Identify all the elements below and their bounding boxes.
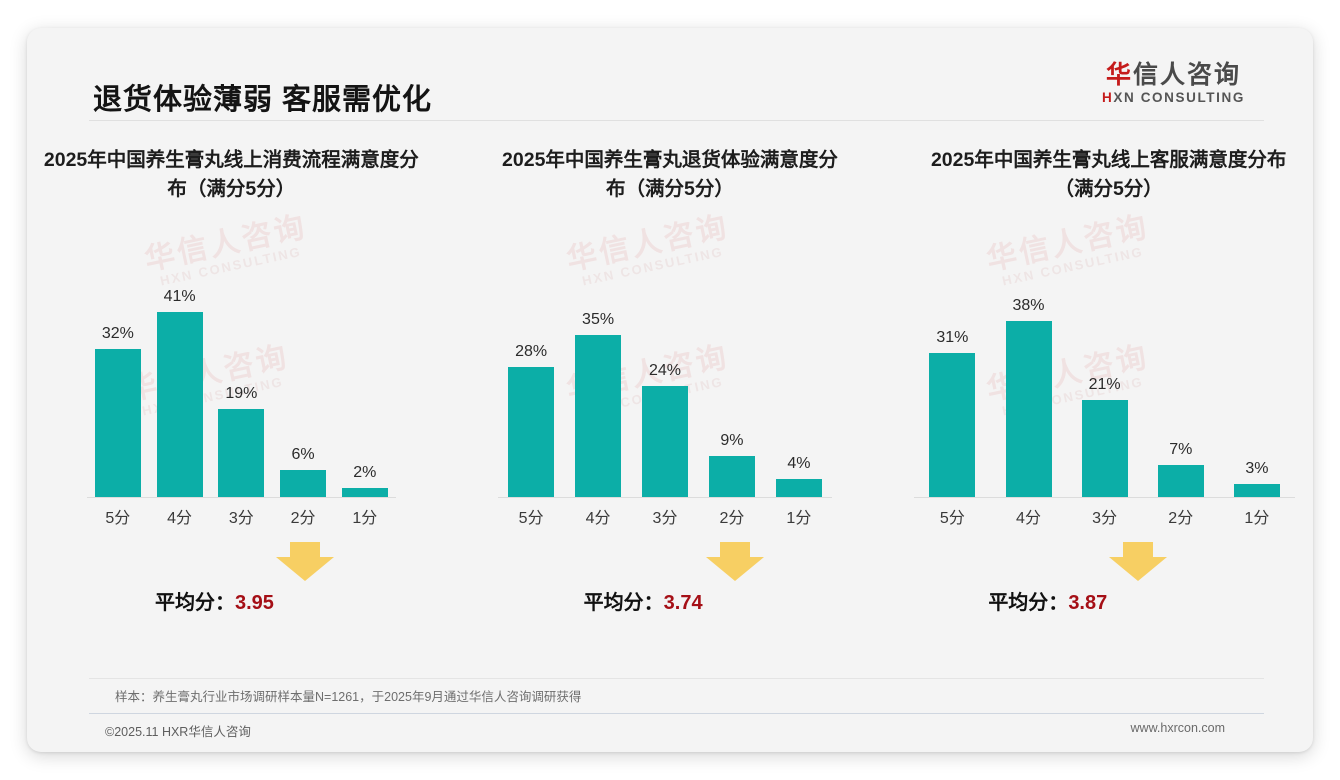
- bar-value-label: 9%: [720, 432, 743, 450]
- x-tick-label: 4分: [565, 504, 632, 534]
- bar-item[interactable]: 24%: [632, 288, 699, 498]
- arrow-head: [276, 557, 334, 581]
- bar-rect[interactable]: [1158, 465, 1204, 498]
- sample-footnote: 样本：养生膏丸行业市场调研样本量N=1261，于2025年9月通过华信人咨询调研…: [115, 686, 581, 705]
- bar-item[interactable]: 31%: [914, 288, 990, 498]
- bar-rect[interactable]: [642, 386, 688, 498]
- bar-value-label: 2%: [353, 464, 376, 482]
- bar-value-label: 32%: [102, 325, 134, 343]
- charts-container: 2025年中国养生膏丸线上消费流程满意度分布（满分5分） 32% 41% 19%: [27, 146, 1313, 628]
- bar-item[interactable]: 4%: [765, 288, 832, 498]
- x-axis-tick-labels: 5分 4分 3分 2分 1分: [87, 504, 396, 534]
- chart-title: 2025年中国养生膏丸线上客服满意度分布（满分5分）: [884, 146, 1313, 208]
- down-arrow-icon: [276, 542, 334, 582]
- arrow-shaft: [1123, 542, 1153, 558]
- average-score-label: 平均分：: [155, 592, 235, 614]
- header-divider: [89, 120, 1264, 121]
- average-score-label: 平均分：: [584, 592, 664, 614]
- bar-value-label: 4%: [787, 455, 810, 473]
- x-tick-label: 1分: [1219, 504, 1295, 534]
- logo-cn-rest: 信人咨询: [1133, 61, 1241, 89]
- average-score-line: 平均分：3.95: [155, 586, 274, 615]
- bar-chart: 28% 35% 24% 9%: [498, 246, 833, 536]
- x-tick-label: 4分: [149, 504, 211, 534]
- bar-rect[interactable]: [575, 335, 621, 498]
- x-tick-label: 2分: [272, 504, 334, 534]
- bar-rect[interactable]: [95, 349, 141, 498]
- chart-panel-consumption-process: 2025年中国养生膏丸线上消费流程满意度分布（满分5分） 32% 41% 19%: [27, 146, 456, 628]
- bar-value-label: 41%: [164, 288, 196, 306]
- x-tick-label: 3分: [210, 504, 272, 534]
- x-axis-line: [498, 497, 833, 498]
- bar-item[interactable]: 6%: [272, 288, 334, 498]
- chart-title: 2025年中国养生膏丸线上消费流程满意度分布（满分5分）: [27, 146, 456, 208]
- average-score-line: 平均分：3.87: [988, 586, 1107, 615]
- chart-title: 2025年中国养生膏丸退货体验满意度分布（满分5分）: [456, 146, 885, 208]
- slide-header: 退货体验薄弱 客服需优化 华信人咨询 HXN CONSULTING: [27, 28, 1313, 118]
- bar-chart: 31% 38% 21% 7%: [914, 246, 1295, 536]
- average-score-value: 3.95: [235, 592, 274, 614]
- average-score-value: 3.74: [664, 592, 703, 614]
- average-score-label: 平均分：: [988, 592, 1068, 614]
- x-tick-label: 2分: [698, 504, 765, 534]
- bar-value-label: 35%: [582, 311, 614, 329]
- bar-group: 28% 35% 24% 9%: [498, 288, 833, 498]
- company-logo: 华信人咨询 HXN CONSULTING: [1081, 62, 1266, 105]
- bar-value-label: 24%: [649, 362, 681, 380]
- bar-item[interactable]: 41%: [149, 288, 211, 498]
- x-tick-label: 1分: [765, 504, 832, 534]
- x-tick-label: 1分: [334, 504, 396, 534]
- bar-rect[interactable]: [709, 456, 755, 498]
- bar-item[interactable]: 7%: [1143, 288, 1219, 498]
- x-axis-line: [87, 497, 396, 498]
- bar-value-label: 28%: [515, 343, 547, 361]
- footnote-divider: [89, 678, 1264, 679]
- x-tick-label: 5分: [498, 504, 565, 534]
- bar-value-label: 7%: [1169, 441, 1192, 459]
- average-score-value: 3.87: [1068, 592, 1107, 614]
- bar-rect[interactable]: [929, 353, 975, 498]
- bar-value-label: 6%: [292, 446, 315, 464]
- bar-rect[interactable]: [1006, 321, 1052, 498]
- logo-cn-first-char: 华: [1106, 61, 1133, 89]
- bar-value-label: 21%: [1089, 376, 1121, 394]
- slide-canvas: 华信人咨询 HXN CONSULTING 华信人咨询 HXN CONSULTIN…: [27, 28, 1313, 752]
- x-axis-tick-labels: 5分 4分 3分 2分 1分: [914, 504, 1295, 534]
- copyright-text: ©2025.11 HXR华信人咨询: [105, 721, 251, 740]
- arrow-shaft: [290, 542, 320, 558]
- bar-value-label: 19%: [225, 385, 257, 403]
- arrow-head: [706, 557, 764, 581]
- x-tick-label: 5分: [914, 504, 990, 534]
- logo-english-text: HXN CONSULTING: [1081, 90, 1266, 105]
- bar-item[interactable]: 3%: [1219, 288, 1295, 498]
- bar-group: 32% 41% 19% 6%: [87, 288, 396, 498]
- bar-item[interactable]: 19%: [210, 288, 272, 498]
- arrow-shaft: [720, 542, 750, 558]
- bar-rect[interactable]: [280, 470, 326, 498]
- bar-rect[interactable]: [776, 479, 822, 498]
- bar-item[interactable]: 28%: [498, 288, 565, 498]
- website-url[interactable]: www.hxrcon.com: [1131, 721, 1225, 735]
- arrow-head: [1109, 557, 1167, 581]
- bar-rect[interactable]: [508, 367, 554, 498]
- average-score-block: 平均分：3.87: [884, 542, 1313, 628]
- chart-panel-customer-service: 2025年中国养生膏丸线上客服满意度分布（满分5分） 31% 38% 21%: [884, 146, 1313, 628]
- average-score-block: 平均分：3.74: [456, 542, 885, 628]
- x-tick-label: 3分: [1067, 504, 1143, 534]
- bar-rect[interactable]: [1234, 484, 1280, 498]
- logo-en-first-char: H: [1102, 90, 1113, 105]
- bar-rect[interactable]: [218, 409, 264, 498]
- bar-item[interactable]: 32%: [87, 288, 149, 498]
- x-tick-label: 5分: [87, 504, 149, 534]
- page-title: 退货体验薄弱 客服需优化: [93, 76, 432, 118]
- bar-item[interactable]: 9%: [698, 288, 765, 498]
- chart-panel-return-experience: 2025年中国养生膏丸退货体验满意度分布（满分5分） 28% 35% 24%: [456, 146, 885, 628]
- slide-footer: ©2025.11 HXR华信人咨询 www.hxrcon.com: [27, 718, 1313, 742]
- bar-value-label: 3%: [1245, 460, 1268, 478]
- bar-value-label: 31%: [936, 329, 968, 347]
- logo-en-rest: XN CONSULTING: [1113, 90, 1245, 105]
- average-score-line: 平均分：3.74: [584, 586, 703, 615]
- bar-item[interactable]: 35%: [565, 288, 632, 498]
- bar-group: 31% 38% 21% 7%: [914, 288, 1295, 498]
- bar-value-label: 38%: [1012, 297, 1044, 315]
- bar-item[interactable]: 21%: [1067, 288, 1143, 498]
- x-axis-tick-labels: 5分 4分 3分 2分 1分: [498, 504, 833, 534]
- bar-rect[interactable]: [157, 312, 203, 498]
- average-score-block: 平均分：3.95: [27, 542, 456, 628]
- bar-rect[interactable]: [1082, 400, 1128, 498]
- down-arrow-icon: [1109, 542, 1167, 582]
- x-tick-label: 4分: [990, 504, 1066, 534]
- down-arrow-icon: [706, 542, 764, 582]
- bar-chart: 32% 41% 19% 6%: [87, 246, 396, 536]
- footer-divider: [89, 713, 1264, 714]
- bar-item[interactable]: 38%: [990, 288, 1066, 498]
- bar-item[interactable]: 2%: [334, 288, 396, 498]
- x-axis-line: [914, 497, 1295, 498]
- x-tick-label: 2分: [1143, 504, 1219, 534]
- logo-chinese-text: 华信人咨询: [1081, 62, 1266, 88]
- x-tick-label: 3分: [632, 504, 699, 534]
